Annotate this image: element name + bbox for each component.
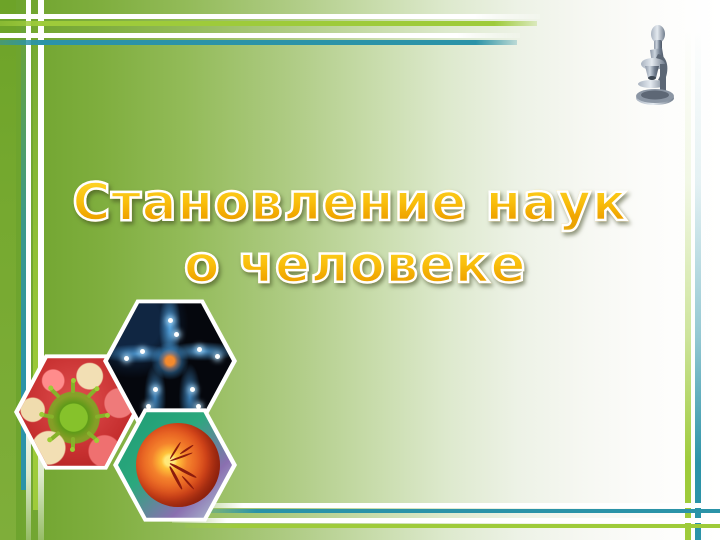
right-teal-vertical-line [695,30,701,540]
slide-title-line-2: о человеке [0,234,700,296]
bottom-green-horizontal-line [185,524,720,528]
slide-title: Становление наук о человеке [0,172,700,296]
left-edge-strip [0,0,16,540]
microscope-icon [628,24,680,108]
retina-fundus-circle [136,423,220,507]
top-green-horizontal-line [0,21,537,26]
bottom-teal-horizontal-line [205,509,720,513]
right-green-vertical-line [685,30,691,540]
top-white-horizontal-line-1 [0,14,540,19]
bottom-white-horizontal-line-1 [190,503,720,508]
bottom-white-horizontal-line-2 [172,518,720,523]
top-white-horizontal-line-2 [0,33,520,38]
top-teal-horizontal-line [0,40,517,45]
slide-title-line-1: Становление наук [0,172,700,234]
left-white-vertical-line-1 [26,0,31,540]
presentation-slide: Становление наук о человеке [0,0,720,540]
right-white-vertical-line [705,0,710,540]
